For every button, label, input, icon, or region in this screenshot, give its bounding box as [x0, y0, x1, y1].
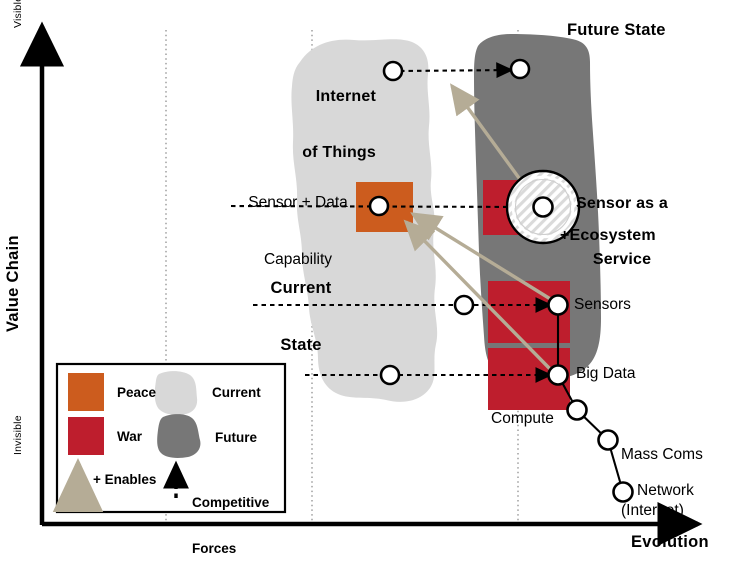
legend-label-enables: + Enables — [93, 472, 156, 487]
legend-label-current: Current — [212, 385, 261, 400]
legend-swatch-war — [68, 417, 104, 455]
x-tick-product: Product (+ rental) — [318, 528, 378, 565]
y-axis-cap-visible: Visible — [12, 0, 24, 28]
x-tick-commodity: Commodity (+ utility) — [524, 528, 600, 565]
legend-swatch-peace — [68, 373, 104, 411]
label-network: Network — [637, 482, 694, 500]
legend-blob-current — [155, 371, 197, 415]
label-iot-line1: Internet — [266, 88, 376, 107]
label-saas-line2: Service — [557, 251, 687, 270]
node-mass-coms — [599, 431, 618, 450]
label-sensor-data-capability: Sensor + Data Capability — [236, 156, 360, 307]
label-sensors: Sensors — [574, 296, 631, 314]
legend-forces-line1: Competitive — [192, 495, 269, 510]
label-current-state-line2: State — [253, 336, 349, 355]
y-axis-title: Value Chain — [4, 202, 23, 332]
legend-label-war: War — [117, 429, 142, 444]
y-axis-cap-invisible: Invisible — [12, 385, 24, 455]
node-sensor-as-a-service — [534, 198, 553, 217]
node-compute — [568, 401, 587, 420]
label-saas-line1: Sensor as a — [557, 195, 687, 214]
label-sensor-data-line1: Sensor + Data — [236, 194, 360, 213]
node-big-data-future — [549, 366, 568, 385]
label-mass-coms-line2: (Internet) — [621, 502, 703, 521]
label-big-data: Big Data — [576, 365, 635, 383]
legend-forces-line2: Forces — [192, 541, 269, 556]
x-tick-genesis: Genesis — [45, 528, 100, 565]
legend-label-competitive-forces: Competitive Forces — [192, 465, 269, 565]
label-ecosystem: +Ecosystem — [560, 227, 656, 245]
node-iot-current — [384, 62, 402, 80]
label-compute: Compute — [491, 410, 554, 428]
wardley-map-canvas: Visible Invisible Value Chain Genesis Cu… — [0, 0, 732, 565]
legend-label-peace: Peace — [117, 385, 156, 400]
label-sensor-data-line2: Capability — [236, 251, 360, 270]
legend-blob-future — [157, 414, 200, 458]
node-big-data-current — [381, 366, 399, 384]
label-mass-coms-line1: Mass Coms — [621, 446, 703, 465]
label-future-state: Future State — [567, 21, 666, 40]
node-sensors-current — [455, 296, 473, 314]
legend-label-future: Future — [215, 430, 257, 445]
node-iot-future — [511, 60, 529, 78]
